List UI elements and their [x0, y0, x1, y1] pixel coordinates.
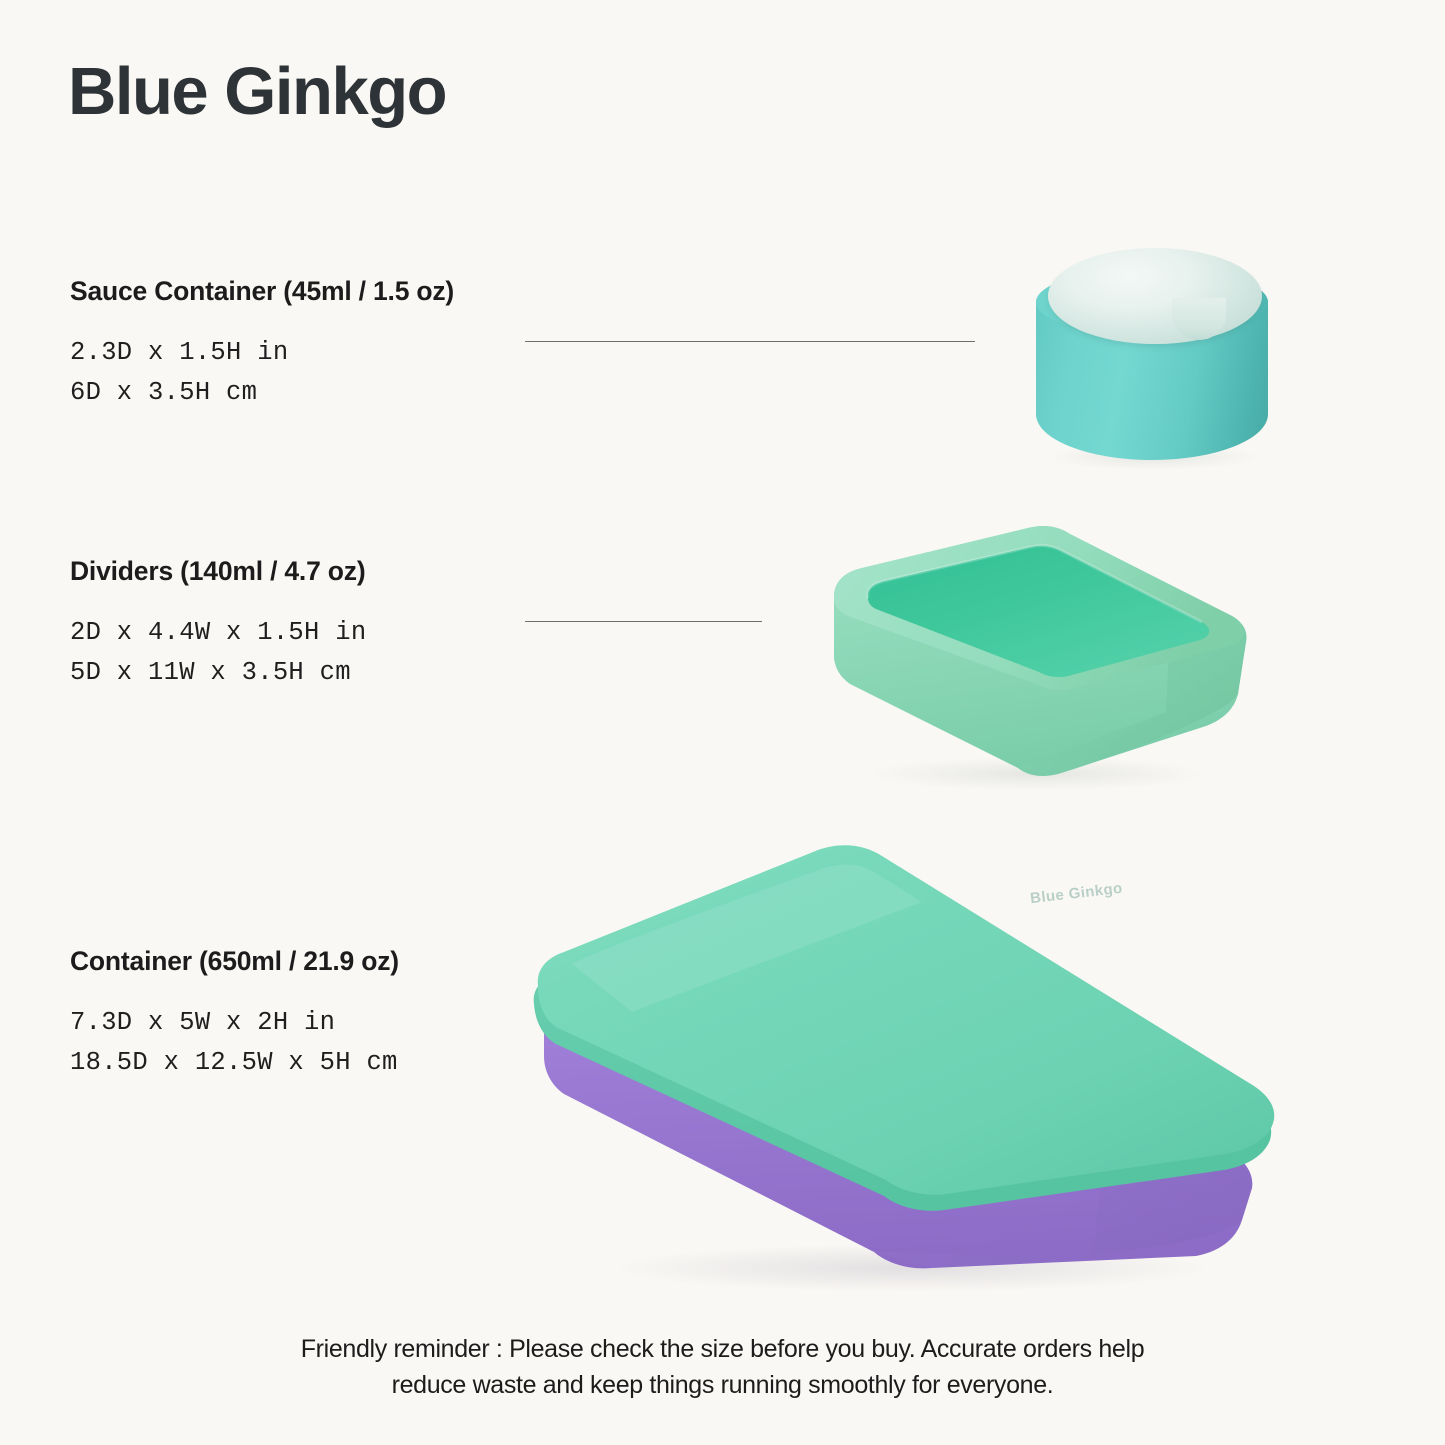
spec-dimensions-in-container: 7.3D x 5W x 2H in — [70, 1003, 399, 1043]
leader-line-dividers — [525, 621, 762, 622]
brand-logo: Blue Ginkgo — [68, 58, 446, 125]
footer-line-2: reduce waste and keep things running smo… — [0, 1368, 1445, 1404]
main-container-svg — [512, 828, 1302, 1298]
spec-title-container: Container (650ml / 21.9 oz) — [70, 946, 399, 977]
divider-tray-image — [822, 512, 1262, 802]
spec-block-container: Container (650ml / 21.9 oz) 7.3D x 5W x … — [70, 946, 399, 1084]
spec-title-dividers: Dividers (140ml / 4.7 oz) — [70, 556, 366, 587]
spec-dimensions-in-sauce-container: 2.3D x 1.5H in — [70, 333, 454, 373]
spec-dimensions-cm-container: 18.5D x 12.5W x 5H cm — [70, 1043, 399, 1083]
spec-title-sauce-container: Sauce Container (45ml / 1.5 oz) — [70, 276, 454, 307]
footer-reminder: Friendly reminder : Please check the siz… — [0, 1332, 1445, 1403]
spec-block-dividers: Dividers (140ml / 4.7 oz) 2D x 4.4W x 1.… — [70, 556, 366, 694]
spec-dimensions-cm-sauce-container: 6D x 3.5H cm — [70, 373, 454, 413]
sauce-container-lid — [1048, 248, 1262, 344]
sauce-container-image — [1036, 248, 1268, 476]
divider-tray-svg — [822, 512, 1262, 802]
spec-dimensions-cm-dividers: 5D x 11W x 3.5H cm — [70, 653, 366, 693]
leader-line-sauce-container — [525, 341, 975, 342]
footer-line-1: Friendly reminder : Please check the siz… — [0, 1332, 1445, 1368]
main-container-image — [512, 828, 1302, 1298]
spec-block-sauce-container: Sauce Container (45ml / 1.5 oz) 2.3D x 1… — [70, 276, 454, 414]
spec-dimensions-in-dividers: 2D x 4.4W x 1.5H in — [70, 613, 366, 653]
product-size-infographic: Blue Ginkgo Sauce Container (45ml / 1.5 … — [0, 0, 1445, 1445]
